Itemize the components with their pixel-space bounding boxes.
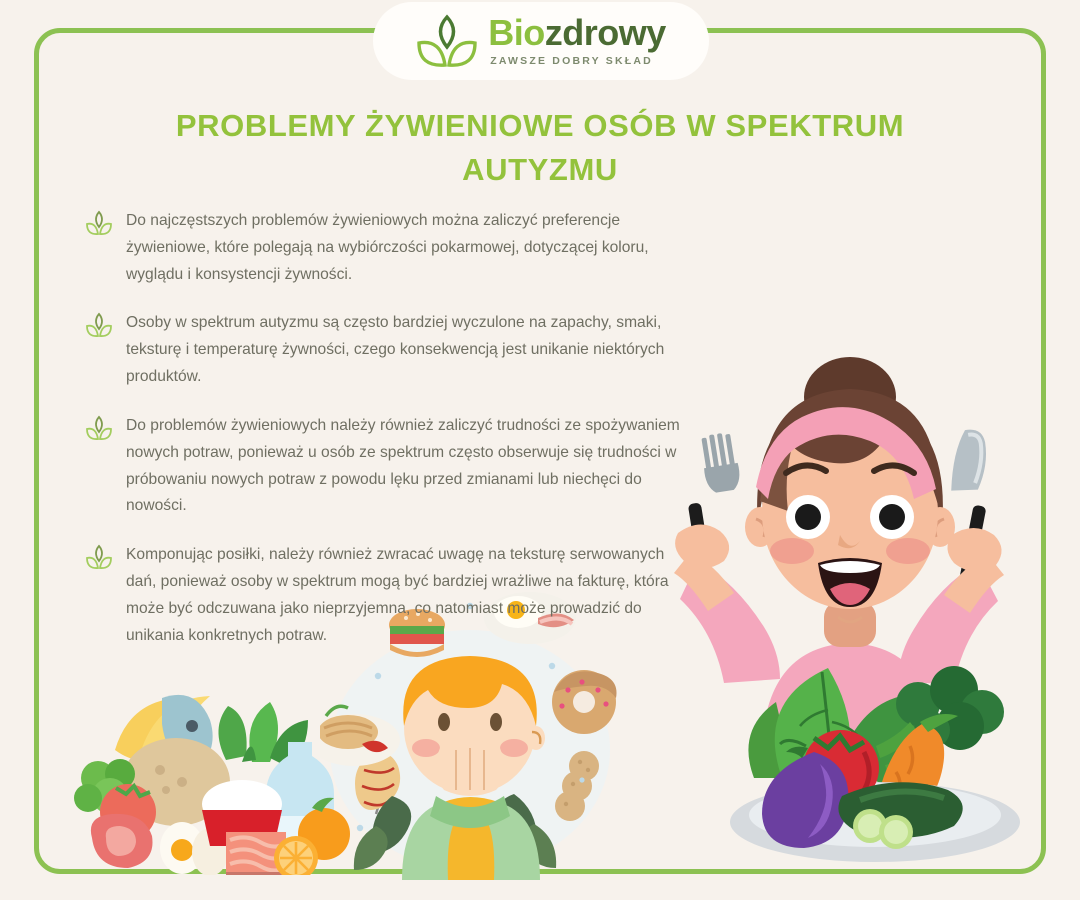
meatball-skewer-icon [555,751,599,821]
broccoli-icon [876,666,1004,768]
corn-dog-skewer-icon [355,753,400,814]
bullet-item: Do najczęstszych problemów żywieniowych … [86,208,686,288]
eggplant-icon [762,740,848,848]
knife-icon [949,427,992,583]
bullet-text: Osoby w spektrum autyzmu są często bardz… [126,310,686,390]
brand-logo[interactable]: Biozdrowy ZAWSZE DOBRY SKŁAD [373,2,709,80]
pasta-plate-icon [320,706,400,766]
bullet-text: Do problemów żywieniowych należy również… [126,413,686,520]
bullet-item: Osoby w spektrum autyzmu są często bardz… [86,310,686,390]
leaf-sprout-icon [86,312,112,338]
page-title: PROBLEMY ŻYWIENIOWE OSÓB W SPEKTRUM AUTY… [140,104,940,192]
donut-icon [552,670,617,734]
logo-wordmark: Biozdrowy [488,15,666,51]
leaf-sprout-icon [416,13,478,69]
carrot-icon [879,714,958,836]
bullet-item: Komponując posiłki, należy również zwrac… [86,542,686,649]
logo-word-zdrowy: zdrowy [545,12,666,53]
girl-with-cutlery-illustration [650,355,1050,775]
leaf-sprout-icon [86,415,112,441]
leaf-sprout-icon [86,544,112,570]
leaf-sprout-icon [86,210,112,236]
bullet-item: Do problemów żywieniowych należy również… [86,413,686,520]
logo-word-bio: Bio [488,12,545,53]
healthy-food-illustration [60,690,370,875]
vegetable-plate-illustration [710,660,1040,875]
leaf-decor-2 [354,824,556,870]
lettuce-icon [748,668,924,790]
tomato-icon [803,730,879,806]
bullet-text: Do najczęstszych problemów żywieniowych … [126,208,686,288]
leaf-decor [372,794,537,854]
bullet-list: Do najczęstszych problemów żywieniowych … [86,208,686,671]
zucchini-icon [838,782,962,849]
logo-tagline: ZAWSZE DOBRY SKŁAD [490,55,653,67]
bullet-text: Komponując posiłki, należy również zwrac… [126,542,686,649]
fork-icon [688,431,742,581]
